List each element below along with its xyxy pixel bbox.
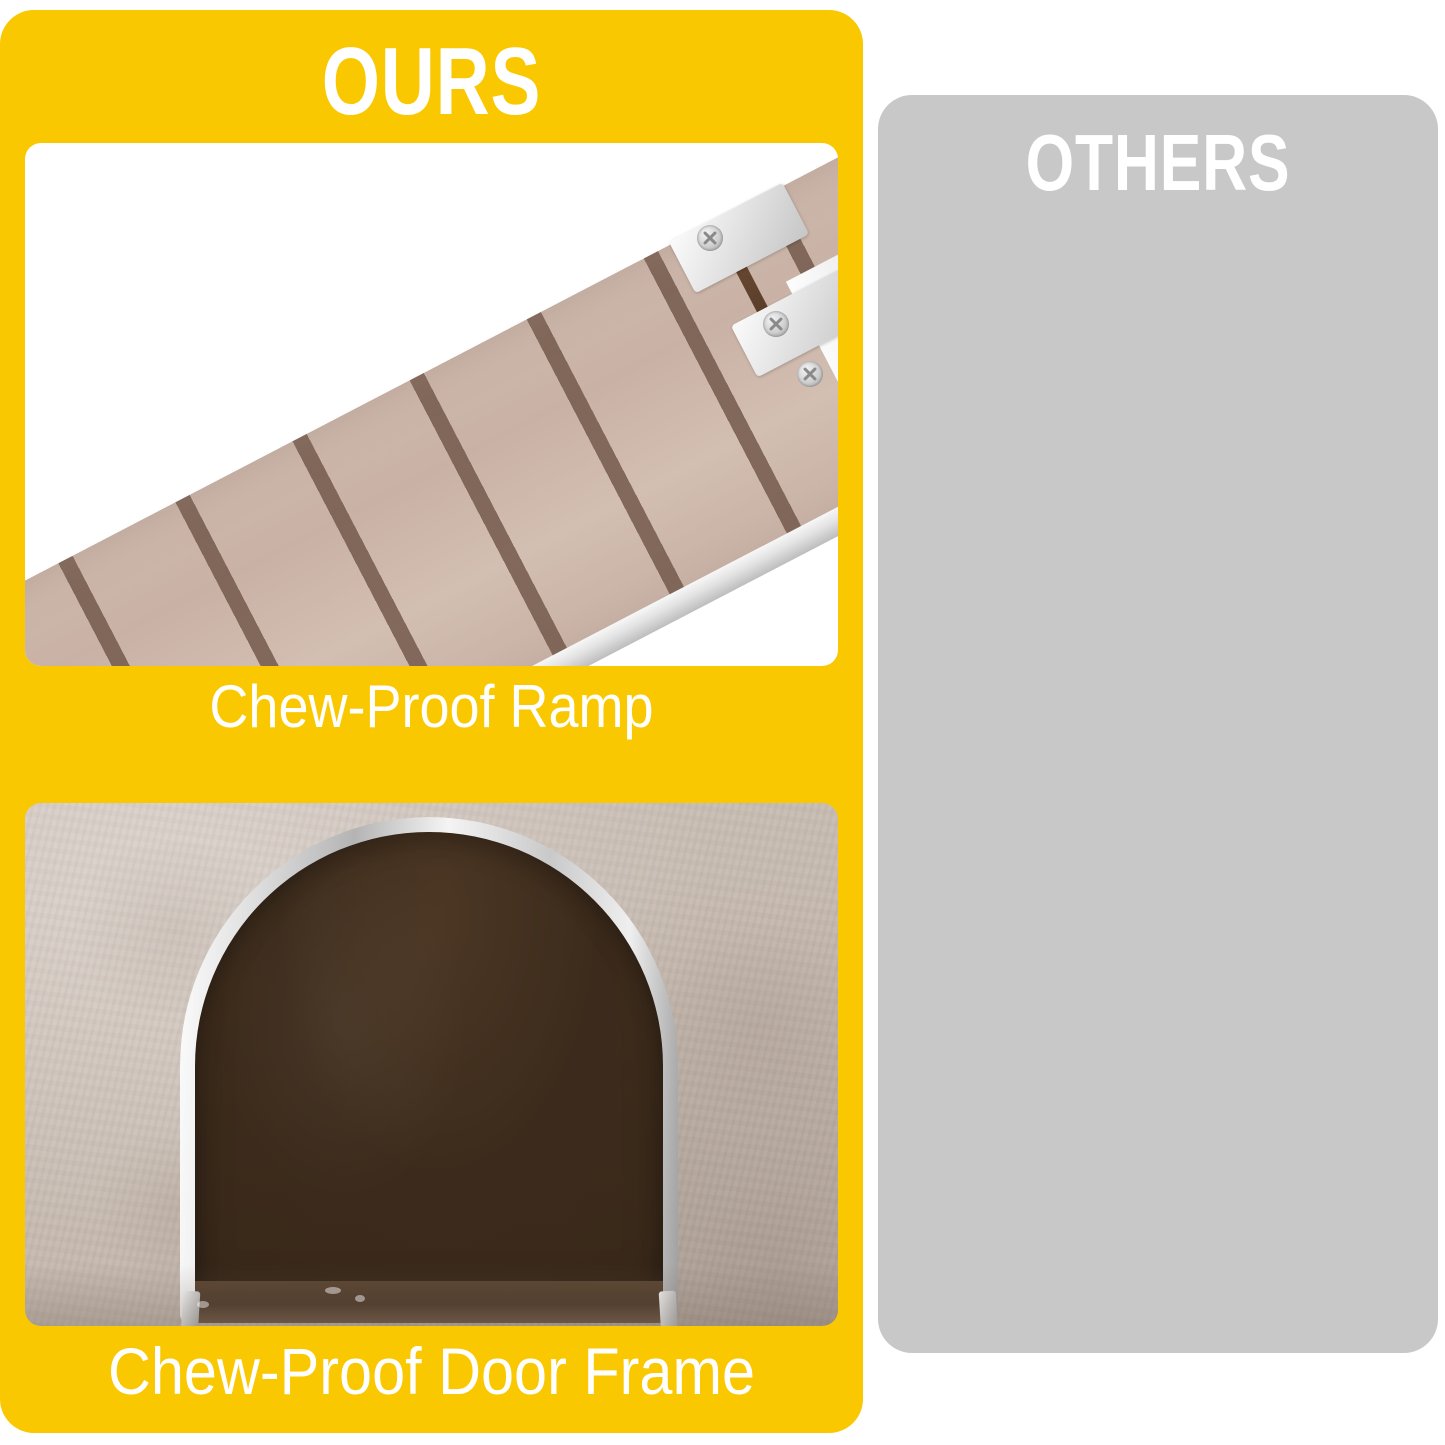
- screw-icon: [697, 225, 723, 251]
- metal-door-trim-icon: [180, 817, 678, 1323]
- others-panel: OTHERS Easy Chewing: [878, 95, 1438, 1353]
- floor-highlight: [355, 1295, 365, 1302]
- chew-proof-door-frame-caption: Chew-Proof Door Frame: [43, 1333, 820, 1409]
- floor-highlight: [197, 1301, 209, 1308]
- screw-icon: [797, 361, 823, 387]
- chew-proof-door-frame-photo: [25, 803, 838, 1326]
- ours-heading: OURS: [95, 34, 768, 130]
- screw-icon: [763, 311, 789, 337]
- chew-proof-ramp-photo: [25, 143, 838, 666]
- ours-panel: OURS Chew-Proof Ramp: [0, 10, 863, 1433]
- chew-proof-ramp-caption: Chew-Proof Ramp: [43, 672, 820, 741]
- others-heading: OTHERS: [940, 123, 1377, 203]
- floor-shadow: [25, 1264, 838, 1326]
- floor-highlight: [325, 1287, 341, 1294]
- ramp-illustration: [25, 143, 838, 666]
- comparison-infographic: OURS Chew-Proof Ramp: [0, 0, 1445, 1445]
